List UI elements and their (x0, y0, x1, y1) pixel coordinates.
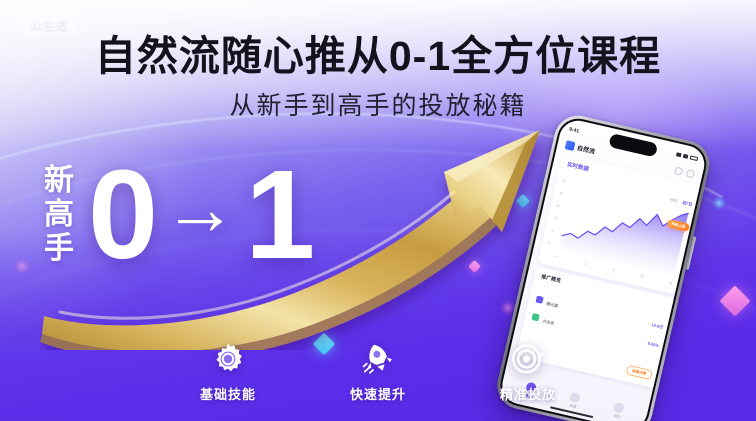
feature-list: 基础技能 快速提升 (0, 341, 756, 403)
signal-icon (676, 152, 682, 157)
metric-value: 12.8万 (651, 322, 664, 330)
metric-icon (531, 313, 539, 321)
y-tick: 5k (562, 178, 572, 184)
target-icon (510, 341, 546, 377)
tab-label: 我的 (613, 413, 621, 419)
profile-icon[interactable] (686, 169, 696, 179)
promo-banner: AI生成 自然流随心推从0-1全方位课程 从新手到高手的投放秘籍 新 高 手 (0, 0, 756, 421)
ai-watermark: AI生成 (22, 14, 76, 36)
feature-item-growth: 快速提升 (335, 341, 421, 403)
x-tick: 五 (669, 281, 673, 286)
overview-title: 推广概览 (541, 273, 562, 284)
wifi-icon (683, 154, 689, 159)
x-tick: 二 (583, 261, 587, 266)
x-tick: 三 (612, 268, 616, 273)
metric-label: 点击率 (541, 310, 557, 330)
app-name: 自然流 (576, 143, 596, 156)
feature-label: 快速提升 (350, 384, 406, 403)
y-tick: 4k (559, 191, 569, 197)
tab-profile[interactable]: 我的 (612, 401, 625, 419)
feature-item-targeting: 精准投放 (485, 341, 571, 403)
feature-label: 基础技能 (200, 384, 256, 403)
gear-icon (210, 341, 246, 377)
one-digit: 1 (245, 152, 312, 278)
x-tick: 四 (640, 274, 644, 279)
y-tick: 0 (548, 241, 558, 247)
app-brand: 自然流 (565, 140, 596, 156)
x-tick: 一 (555, 255, 559, 260)
user-icon (613, 401, 625, 413)
tab-label: 数据 (569, 403, 577, 409)
metric-name: 曝光量 (546, 301, 559, 309)
y-tick: 1k (551, 228, 561, 234)
y-tick: 3k (556, 203, 566, 209)
feature-label: 精准投放 (500, 384, 556, 403)
card-title: 实时数据 (566, 160, 589, 173)
arrow-right-icon: → (163, 172, 237, 246)
rocket-icon (360, 341, 396, 377)
app-logo-icon (565, 140, 576, 151)
page-subtitle: 从新手到高手的投放秘籍 (0, 91, 756, 121)
y-tick: 2k (553, 216, 563, 222)
zero-digit: 0 (88, 152, 155, 278)
feature-item-skills: 基础技能 (185, 341, 271, 403)
metric-icon (536, 295, 544, 303)
battery-icon (690, 155, 699, 161)
zero-to-one-graphic: 0 → 1 (88, 152, 312, 278)
app-header-buttons (674, 166, 695, 178)
page-title: 自然流随心推从0-1全方位课程 (0, 34, 756, 79)
metric-name: 点击率 (542, 318, 555, 326)
trend-chart: 5k 4k 3k 2k 1k 0 (545, 178, 692, 286)
status-icons (676, 152, 698, 161)
notification-icon[interactable] (674, 166, 684, 176)
status-time: 9:41 (568, 127, 579, 135)
